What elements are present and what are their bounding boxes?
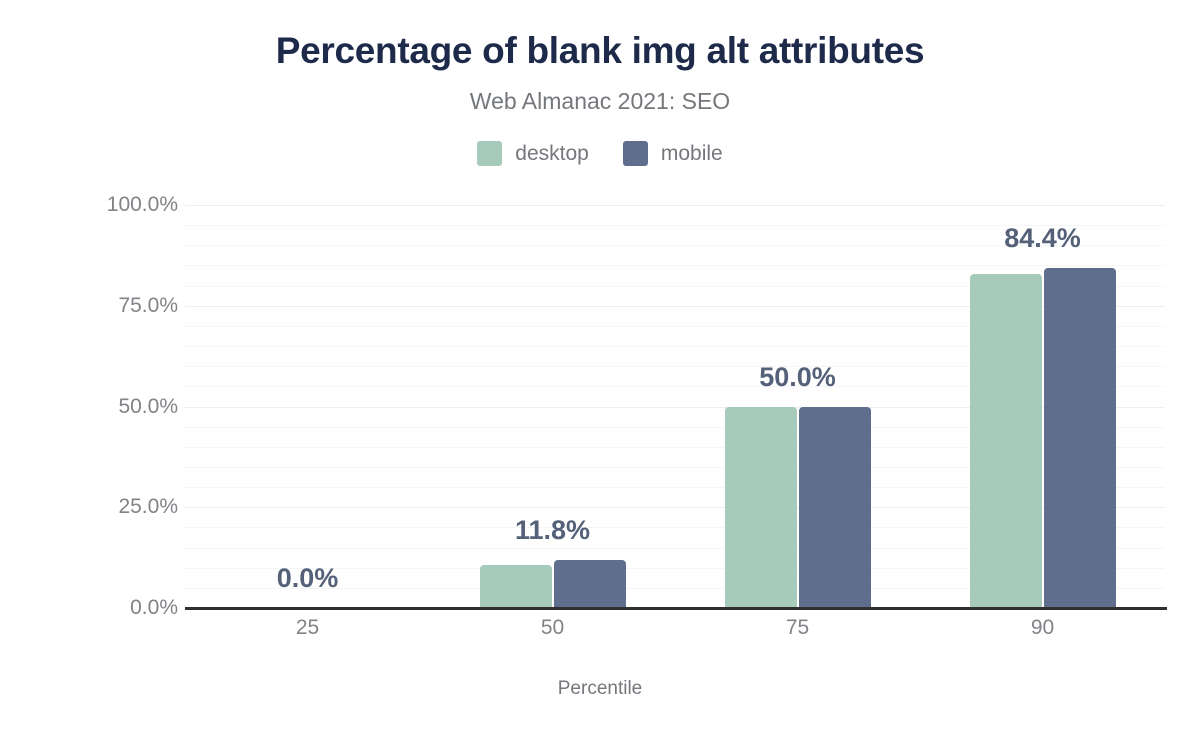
chart-legend: desktop mobile (0, 141, 1200, 166)
y-tick-label: 75.0% (58, 294, 178, 318)
legend-swatch-desktop (477, 141, 502, 166)
y-tick-label: 0.0% (58, 596, 178, 620)
y-tick-label: 100.0% (58, 193, 178, 217)
bar-value-label-90: 84.4% (920, 223, 1165, 254)
x-tick-label-50: 50 (430, 616, 675, 640)
y-tick-label: 25.0% (58, 495, 178, 519)
bar-group-25 (185, 205, 430, 608)
x-tick-label-25: 25 (185, 616, 430, 640)
x-tick-label-75: 75 (675, 616, 920, 640)
bar-group-90 (920, 205, 1165, 608)
plot-area: 0.0%11.8%50.0%84.4% (185, 205, 1165, 608)
legend-item-desktop[interactable]: desktop (477, 141, 589, 166)
bar-mobile-75[interactable] (799, 407, 871, 608)
x-axis-line (185, 607, 1167, 610)
legend-label-desktop: desktop (515, 142, 589, 166)
bar-desktop-90[interactable] (970, 274, 1042, 608)
x-tick-label-90: 90 (920, 616, 1165, 640)
bar-value-label-25: 0.0% (185, 563, 430, 594)
bar-value-label-50: 11.8% (430, 515, 675, 546)
legend-item-mobile[interactable]: mobile (623, 141, 723, 166)
bar-desktop-75[interactable] (725, 407, 797, 608)
x-axis-title: Percentile (0, 678, 1200, 700)
bar-value-label-75: 50.0% (675, 362, 920, 393)
bar-mobile-90[interactable] (1044, 268, 1116, 608)
legend-swatch-mobile (623, 141, 648, 166)
chart-subtitle: Web Almanac 2021: SEO (0, 88, 1200, 115)
bar-desktop-50[interactable] (480, 565, 552, 608)
chart-title: Percentage of blank img alt attributes (0, 30, 1200, 72)
legend-label-mobile: mobile (661, 142, 723, 166)
bar-group-50 (430, 205, 675, 608)
y-tick-label: 50.0% (58, 395, 178, 419)
bar-group-75 (675, 205, 920, 608)
bar-chart: Percentage of blank img alt attributes W… (0, 0, 1200, 742)
bar-mobile-50[interactable] (554, 560, 626, 608)
